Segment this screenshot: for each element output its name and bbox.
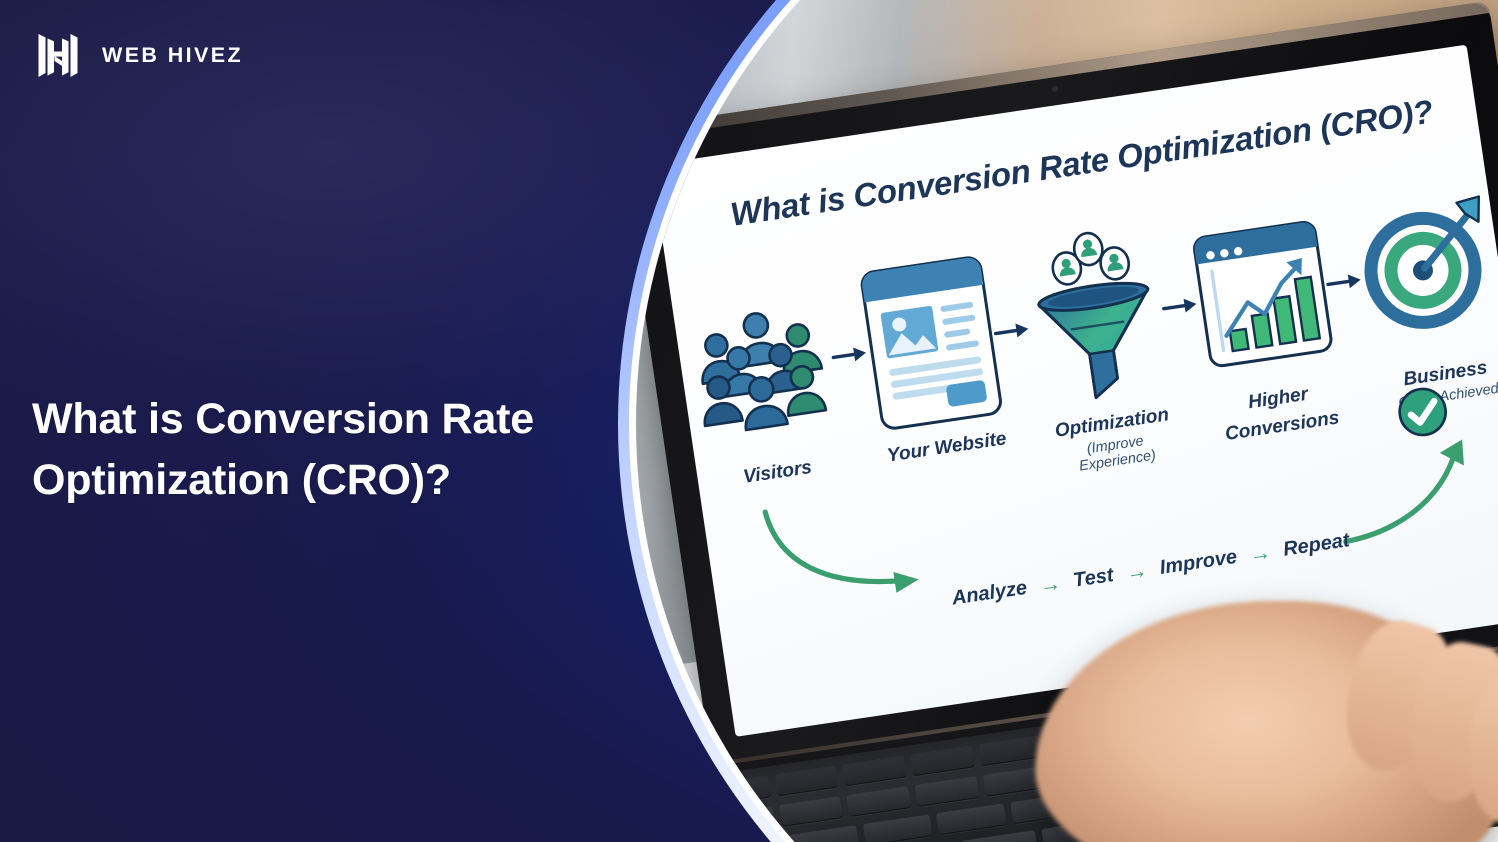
cycle-item-repeat: Repeat [1282, 529, 1351, 561]
conversion-funnel-icon [1018, 221, 1175, 416]
banner-canvas: WEB HIVEZ What is Conversion Rate Optimi… [0, 0, 1498, 842]
flow-step-label-conversions-line1: Higher [1247, 384, 1310, 415]
cycle-item-test: Test [1072, 564, 1115, 593]
people-group-icon [680, 270, 845, 467]
cycle-item-improve: Improve [1158, 545, 1238, 579]
growth-chart-icon [1186, 197, 1339, 392]
webhivez-hive-h-logo-icon [32, 29, 84, 81]
flow-step-goals: Business Goals Achieved [1351, 172, 1498, 415]
brand-logo-lockup[interactable]: WEB HIVEZ [32, 29, 243, 81]
cycle-separator-2-icon: → [1125, 560, 1149, 584]
cycle-item-analyze: Analyze [950, 576, 1028, 610]
flow-step-label-conversions-line2: Conversions [1224, 408, 1341, 447]
flow-step-label-visitors: Visitors [742, 457, 814, 489]
cycle-separator-3-icon: → [1248, 541, 1272, 565]
brand-name: WEB HIVEZ [102, 43, 243, 68]
green-check-circle-icon [1392, 381, 1454, 447]
cycle-separator-1-icon: → [1038, 572, 1062, 596]
page-title: What is Conversion Rate Optimization (CR… [32, 389, 632, 512]
target-bullseye-icon [1351, 172, 1498, 368]
